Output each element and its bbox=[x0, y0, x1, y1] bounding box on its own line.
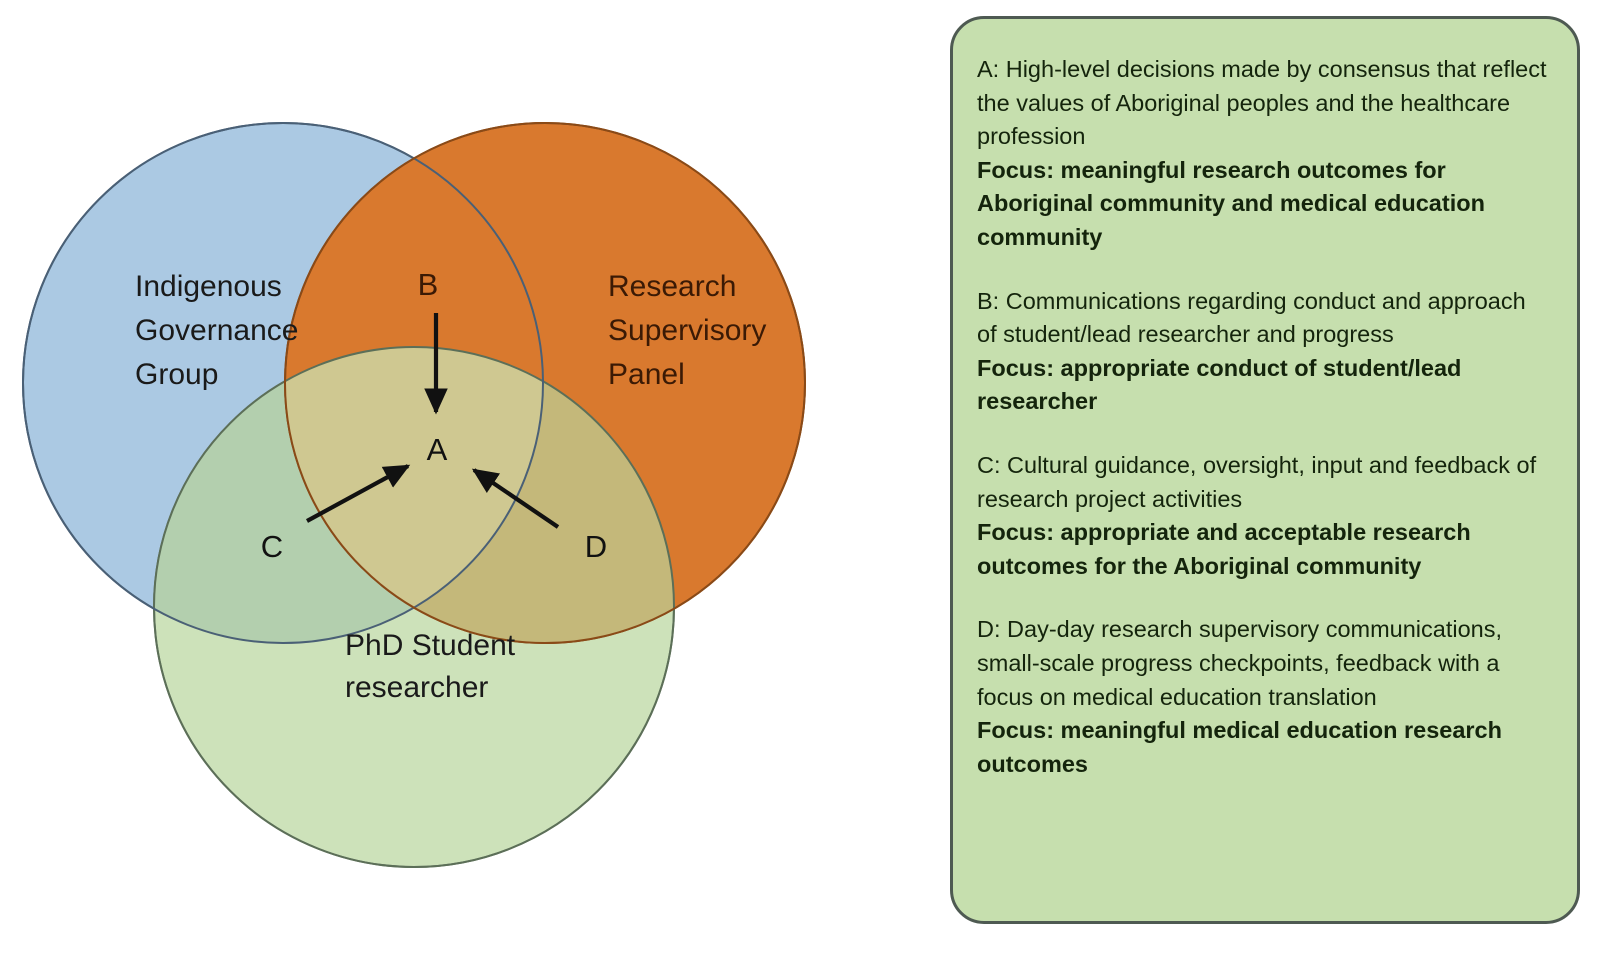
legend-entry-d-description: D: Day-day research supervisory communic… bbox=[977, 613, 1551, 714]
legend-entry-a: A: High-level decisions made by consensu… bbox=[977, 53, 1551, 255]
label-line: Panel bbox=[608, 358, 685, 391]
label-line: Indigenous bbox=[135, 270, 282, 303]
label-line: Group bbox=[135, 358, 218, 391]
zone-letter-b: B bbox=[418, 267, 439, 302]
zone-letter-d: D bbox=[585, 529, 607, 564]
legend-entry-c-focus: Focus: appropriate and acceptable resear… bbox=[977, 516, 1551, 583]
legend-entry-a-description: A: High-level decisions made by consensu… bbox=[977, 53, 1551, 154]
legend-entry-a-focus: Focus: meaningful research outcomes for … bbox=[977, 154, 1551, 255]
legend-entry-b: B: Communications regarding conduct and … bbox=[977, 285, 1551, 419]
label-line: PhD Student bbox=[345, 629, 516, 662]
label-line: researcher bbox=[345, 671, 488, 704]
legend-entry-c-description: C: Cultural guidance, oversight, input a… bbox=[977, 449, 1551, 516]
label-line: Governance bbox=[135, 314, 298, 347]
legend-entry-d: D: Day-day research supervisory communic… bbox=[977, 613, 1551, 781]
legend-entry-c: C: Cultural guidance, oversight, input a… bbox=[977, 449, 1551, 583]
legend-entry-d-focus: Focus: meaningful medical education rese… bbox=[977, 714, 1551, 781]
legend-entry-b-description: B: Communications regarding conduct and … bbox=[977, 285, 1551, 352]
legend-entry-b-focus: Focus: appropriate conduct of student/le… bbox=[977, 352, 1551, 419]
figure-root: Indigenous Governance Group Research Sup… bbox=[0, 0, 1600, 962]
legend-panel: A: High-level decisions made by consensu… bbox=[950, 16, 1580, 924]
zone-letter-a: A bbox=[427, 432, 448, 467]
venn-diagram-svg: Indigenous Governance Group Research Sup… bbox=[0, 0, 930, 962]
label-line: Research bbox=[608, 270, 736, 303]
label-line: Supervisory bbox=[608, 314, 766, 347]
venn-diagram: Indigenous Governance Group Research Sup… bbox=[0, 0, 930, 962]
zone-letter-c: C bbox=[261, 529, 283, 564]
